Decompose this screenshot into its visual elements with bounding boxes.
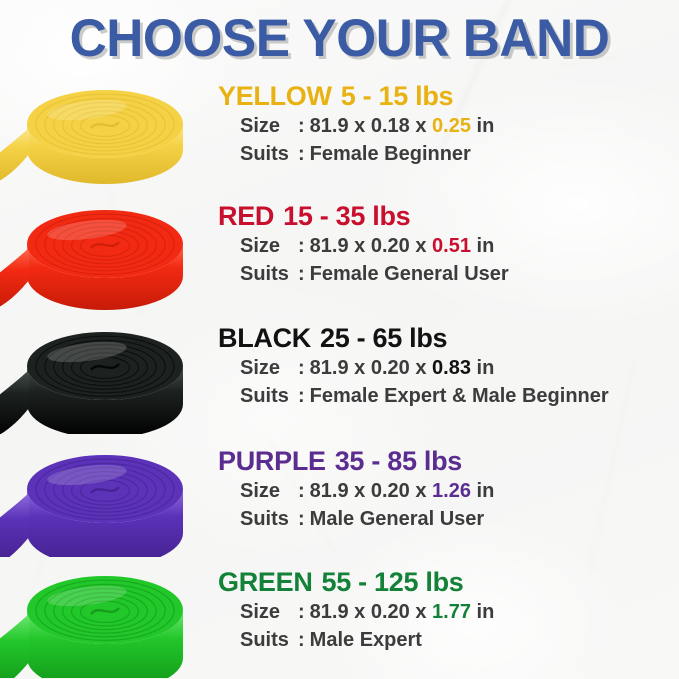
band-coil-black bbox=[0, 314, 210, 434]
suits-label: Suits bbox=[240, 505, 298, 533]
suits-value: Male General User bbox=[310, 508, 485, 530]
colon-separator: : bbox=[298, 508, 305, 530]
suits-label: Suits bbox=[240, 382, 298, 410]
size-label: Size bbox=[240, 232, 298, 260]
coil-tail bbox=[0, 614, 29, 678]
size-thickness-highlight: 0.51 bbox=[432, 235, 471, 257]
coil-tail bbox=[0, 128, 29, 184]
size-label: Size bbox=[240, 112, 298, 140]
colon-separator: : bbox=[298, 357, 305, 379]
band-row-black: BLACK25 - 65 lbsSize:81.9 x 0.20 x 0.83 … bbox=[0, 314, 679, 434]
band-info: BLACK25 - 65 lbsSize:81.9 x 0.20 x 0.83 … bbox=[218, 322, 679, 410]
band-coil-yellow bbox=[0, 72, 210, 192]
size-dimensions: 81.9 x 0.20 x bbox=[310, 235, 427, 257]
band-suits-line: Suits:Female Beginner bbox=[240, 140, 679, 168]
band-weight-range: 15 - 35 lbs bbox=[283, 201, 410, 231]
band-suits-line: Suits:Female Expert & Male Beginner bbox=[240, 382, 679, 410]
suits-value: Male Expert bbox=[310, 629, 422, 651]
band-suits-line: Suits:Male General User bbox=[240, 505, 679, 533]
size-thickness-highlight: 0.83 bbox=[432, 357, 471, 379]
band-row-green: GREEN55 - 125 lbsSize:81.9 x 0.20 x 1.77… bbox=[0, 558, 679, 678]
band-name: PURPLE bbox=[218, 446, 326, 476]
band-info: RED15 - 35 lbsSize:81.9 x 0.20 x 0.51 in… bbox=[218, 200, 679, 288]
size-thickness-highlight: 1.26 bbox=[432, 480, 471, 502]
page-title: CHOOSE YOUR BAND bbox=[10, 8, 669, 70]
band-weight-range: 5 - 15 lbs bbox=[341, 81, 454, 111]
band-coil-red bbox=[0, 192, 210, 312]
size-dimensions: 81.9 x 0.20 x bbox=[310, 480, 427, 502]
band-weight-range: 25 - 65 lbs bbox=[320, 323, 447, 353]
band-coil-image bbox=[0, 192, 210, 312]
band-heading: GREEN55 - 125 lbs bbox=[218, 566, 679, 598]
coil-tail bbox=[0, 248, 29, 310]
size-label: Size bbox=[240, 354, 298, 382]
size-unit: in bbox=[477, 357, 495, 379]
band-size-line: Size:81.9 x 0.20 x 1.26 in bbox=[240, 477, 679, 505]
band-coil-green bbox=[0, 558, 210, 678]
band-heading: BLACK25 - 65 lbs bbox=[218, 322, 679, 354]
band-suits-line: Suits:Female General User bbox=[240, 260, 679, 288]
suits-label: Suits bbox=[240, 260, 298, 288]
band-row-red: RED15 - 35 lbsSize:81.9 x 0.20 x 0.51 in… bbox=[0, 192, 679, 312]
colon-separator: : bbox=[298, 263, 305, 285]
band-coil-image bbox=[0, 314, 210, 434]
size-label: Size bbox=[240, 598, 298, 626]
suits-value: Female Beginner bbox=[310, 143, 471, 165]
band-info: GREEN55 - 125 lbsSize:81.9 x 0.20 x 1.77… bbox=[218, 566, 679, 654]
band-weight-range: 55 - 125 lbs bbox=[322, 567, 464, 597]
size-unit: in bbox=[477, 601, 495, 623]
size-unit: in bbox=[477, 235, 495, 257]
suits-label: Suits bbox=[240, 626, 298, 654]
band-heading: RED15 - 35 lbs bbox=[218, 200, 679, 232]
suits-value: Female Expert & Male Beginner bbox=[310, 385, 609, 407]
colon-separator: : bbox=[298, 385, 305, 407]
band-heading: YELLOW5 - 15 lbs bbox=[218, 80, 679, 112]
size-unit: in bbox=[477, 480, 495, 502]
size-dimensions: 81.9 x 0.20 x bbox=[310, 601, 427, 623]
colon-separator: : bbox=[298, 115, 305, 137]
band-size-line: Size:81.9 x 0.20 x 1.77 in bbox=[240, 598, 679, 626]
band-name: YELLOW bbox=[218, 81, 332, 111]
band-row-yellow: YELLOW5 - 15 lbsSize:81.9 x 0.18 x 0.25 … bbox=[0, 72, 679, 192]
band-coil-purple bbox=[0, 437, 210, 557]
coil-tail bbox=[0, 370, 29, 434]
coil-tail bbox=[0, 493, 29, 557]
band-size-line: Size:81.9 x 0.20 x 0.51 in bbox=[240, 232, 679, 260]
band-name: RED bbox=[218, 201, 274, 231]
band-suits-line: Suits:Male Expert bbox=[240, 626, 679, 654]
suits-label: Suits bbox=[240, 140, 298, 168]
band-row-purple: PURPLE35 - 85 lbsSize:81.9 x 0.20 x 1.26… bbox=[0, 437, 679, 557]
suits-value: Female General User bbox=[310, 263, 509, 285]
size-label: Size bbox=[240, 477, 298, 505]
band-info: YELLOW5 - 15 lbsSize:81.9 x 0.18 x 0.25 … bbox=[218, 80, 679, 168]
colon-separator: : bbox=[298, 629, 305, 651]
colon-separator: : bbox=[298, 480, 305, 502]
colon-separator: : bbox=[298, 235, 305, 257]
infographic-canvas: CHOOSE YOUR BAND YELLOW5 - 15 lbsSize:81… bbox=[0, 0, 679, 679]
size-thickness-highlight: 1.77 bbox=[432, 601, 471, 623]
size-thickness-highlight: 0.25 bbox=[432, 115, 471, 137]
band-name: BLACK bbox=[218, 323, 311, 353]
band-size-line: Size:81.9 x 0.18 x 0.25 in bbox=[240, 112, 679, 140]
band-info: PURPLE35 - 85 lbsSize:81.9 x 0.20 x 1.26… bbox=[218, 445, 679, 533]
band-name: GREEN bbox=[218, 567, 313, 597]
band-weight-range: 35 - 85 lbs bbox=[335, 446, 462, 476]
band-size-line: Size:81.9 x 0.20 x 0.83 in bbox=[240, 354, 679, 382]
band-coil-image bbox=[0, 72, 210, 192]
band-coil-image bbox=[0, 558, 210, 678]
size-dimensions: 81.9 x 0.18 x bbox=[310, 115, 427, 137]
size-unit: in bbox=[477, 115, 495, 137]
colon-separator: : bbox=[298, 601, 305, 623]
colon-separator: : bbox=[298, 143, 305, 165]
band-heading: PURPLE35 - 85 lbs bbox=[218, 445, 679, 477]
size-dimensions: 81.9 x 0.20 x bbox=[310, 357, 427, 379]
band-coil-image bbox=[0, 437, 210, 557]
